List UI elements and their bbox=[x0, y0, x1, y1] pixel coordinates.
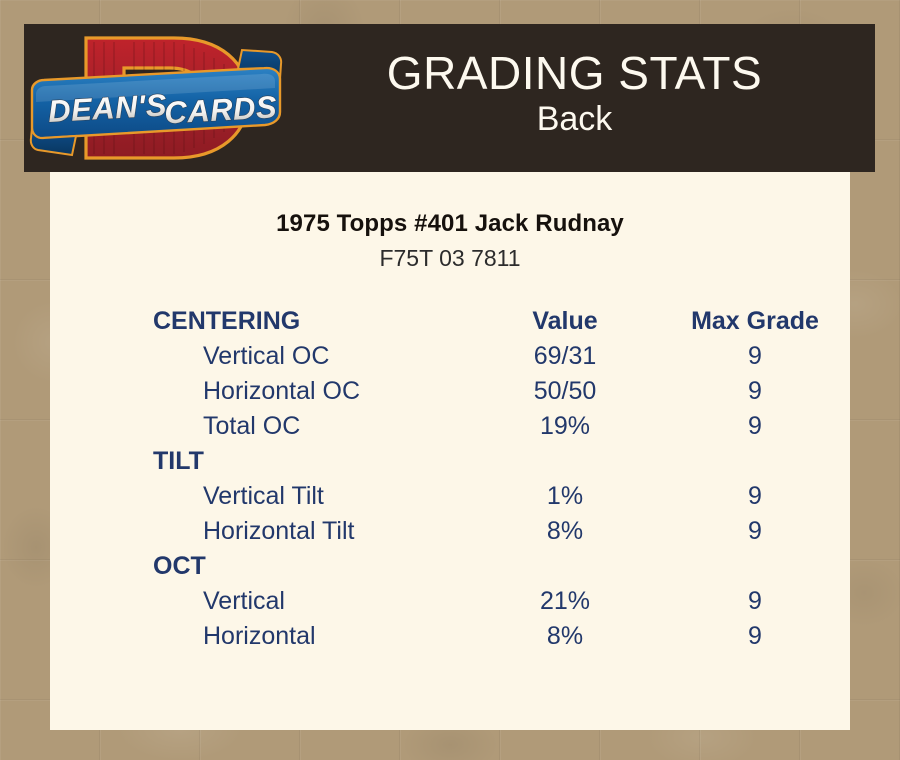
stat-label: Vertical OC bbox=[50, 339, 470, 374]
stat-row: Vertical21%9 bbox=[50, 584, 850, 619]
card-title: 1975 Topps #401 Jack Rudnay bbox=[50, 210, 850, 238]
column-header-value: Value bbox=[470, 304, 660, 339]
stat-value: 19% bbox=[470, 409, 660, 444]
spacer-cell bbox=[470, 549, 660, 584]
page-subtitle: Back bbox=[286, 97, 863, 143]
stat-row: Horizontal OC50/509 bbox=[50, 374, 850, 409]
section-header-row: TILT bbox=[50, 444, 850, 479]
stat-value: 21% bbox=[470, 584, 660, 619]
card-serial-number: F75T 03 7811 bbox=[50, 245, 850, 272]
section-name: TILT bbox=[50, 444, 470, 479]
stat-label: Vertical Tilt bbox=[50, 479, 470, 514]
stat-max-grade: 9 bbox=[660, 374, 850, 409]
stat-value: 1% bbox=[470, 479, 660, 514]
stat-row: Vertical OC69/319 bbox=[50, 339, 850, 374]
stat-value: 8% bbox=[470, 619, 660, 654]
deans-cards-logo[interactable]: DEAN'S CARDS bbox=[24, 24, 286, 172]
section-header-row: OCT bbox=[50, 549, 850, 584]
grading-stats-panel: 1975 Topps #401 Jack Rudnay F75T 03 7811… bbox=[50, 172, 850, 730]
grading-stats-table: CENTERINGValueMax GradeVertical OC69/319… bbox=[50, 304, 850, 654]
app-header-bar: DEAN'S CARDS GRADING STATS Back bbox=[24, 24, 875, 172]
stat-value: 69/31 bbox=[470, 339, 660, 374]
stat-label: Horizontal OC bbox=[50, 374, 470, 409]
section-header-row: CENTERINGValueMax Grade bbox=[50, 304, 850, 339]
header-title-group: GRADING STATS Back bbox=[286, 49, 875, 147]
stat-label: Total OC bbox=[50, 409, 470, 444]
section-name: CENTERING bbox=[50, 304, 470, 339]
stat-label: Horizontal Tilt bbox=[50, 514, 470, 549]
stat-max-grade: 9 bbox=[660, 619, 850, 654]
spacer-cell bbox=[660, 444, 850, 479]
stat-max-grade: 9 bbox=[660, 409, 850, 444]
spacer-cell bbox=[470, 444, 660, 479]
stat-label: Horizontal bbox=[50, 619, 470, 654]
stat-value: 8% bbox=[470, 514, 660, 549]
spacer-cell bbox=[660, 549, 850, 584]
stat-max-grade: 9 bbox=[660, 479, 850, 514]
svg-text:DEAN'S: DEAN'S bbox=[47, 87, 168, 129]
section-name: OCT bbox=[50, 549, 470, 584]
stat-max-grade: 9 bbox=[660, 339, 850, 374]
stat-row: Total OC19%9 bbox=[50, 409, 850, 444]
svg-text:CARDS: CARDS bbox=[163, 89, 278, 130]
stat-max-grade: 9 bbox=[660, 584, 850, 619]
stat-row: Vertical Tilt1%9 bbox=[50, 479, 850, 514]
column-header-max-grade: Max Grade bbox=[660, 304, 850, 339]
stat-value: 50/50 bbox=[470, 374, 660, 409]
stat-row: Horizontal Tilt8%9 bbox=[50, 514, 850, 549]
stat-max-grade: 9 bbox=[660, 514, 850, 549]
deans-cards-logo-icon: DEAN'S CARDS bbox=[24, 24, 286, 172]
stat-row: Horizontal8%9 bbox=[50, 619, 850, 654]
page-title: GRADING STATS bbox=[286, 49, 863, 97]
stat-label: Vertical bbox=[50, 584, 470, 619]
